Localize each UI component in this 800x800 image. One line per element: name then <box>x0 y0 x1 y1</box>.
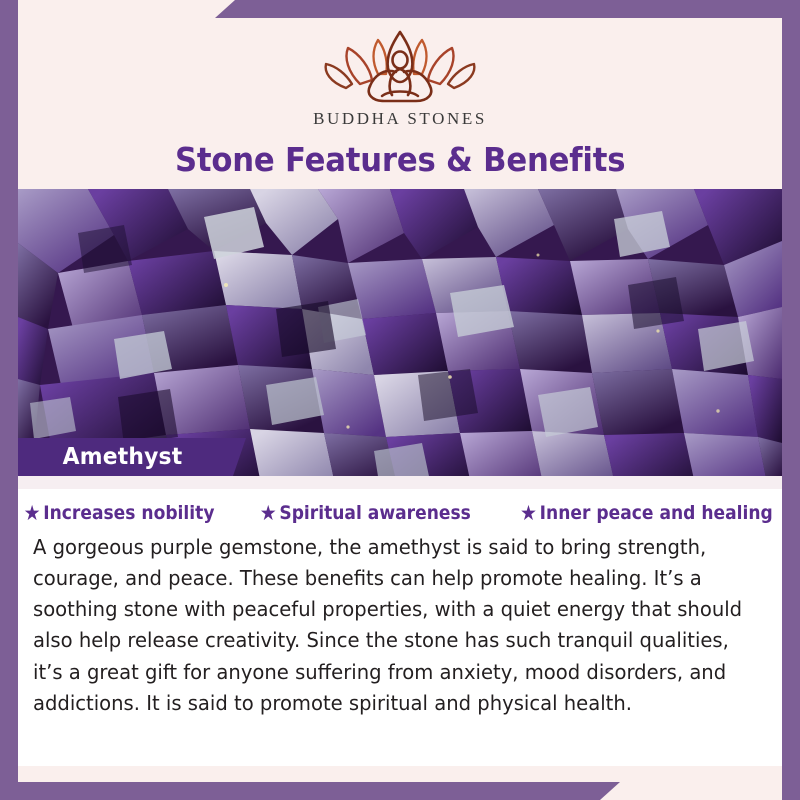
benefit-label-2: Spiritual awareness <box>280 502 471 524</box>
border-ribbon-top <box>215 0 800 18</box>
content-card: BUDDHA STONES Stone Features & Benefits <box>18 18 782 782</box>
star-icon: ★ <box>24 503 41 524</box>
star-icon: ★ <box>520 503 537 524</box>
title-bar: Stone Features & Benefits <box>18 138 782 189</box>
benefit-label-1: Increases nobility <box>44 502 215 524</box>
lotus-meditation-figure-icon <box>316 26 484 108</box>
description-text: A gorgeous purple gemstone, the amethyst… <box>33 532 763 719</box>
brand-name: BUDDHA STONES <box>313 109 487 129</box>
border-ribbon-bottom <box>0 782 620 800</box>
stone-name-banner: Amethyst <box>18 438 246 476</box>
benefit-label-3: Inner peace and healing <box>540 502 773 524</box>
border-ribbon-right <box>782 0 800 800</box>
brand-header: BUDDHA STONES <box>18 18 782 138</box>
benefit-item-1: ★ Increases nobility <box>24 502 215 524</box>
stone-photo: Amethyst <box>18 189 782 489</box>
benefits-row: ★ Increases nobility ★ Spiritual awarene… <box>18 489 782 530</box>
page-title: Stone Features & Benefits <box>175 140 625 179</box>
banner-underline-strip <box>18 476 782 489</box>
stone-name: Amethyst <box>18 444 182 470</box>
benefit-item-2: ★ Spiritual awareness <box>260 502 471 524</box>
benefit-item-3: ★ Inner peace and healing <box>520 502 773 524</box>
infographic-page: BUDDHA STONES Stone Features & Benefits <box>0 0 800 800</box>
description-section: A gorgeous purple gemstone, the amethyst… <box>18 530 782 766</box>
border-ribbon-left <box>0 0 18 800</box>
star-icon: ★ <box>260 503 277 524</box>
